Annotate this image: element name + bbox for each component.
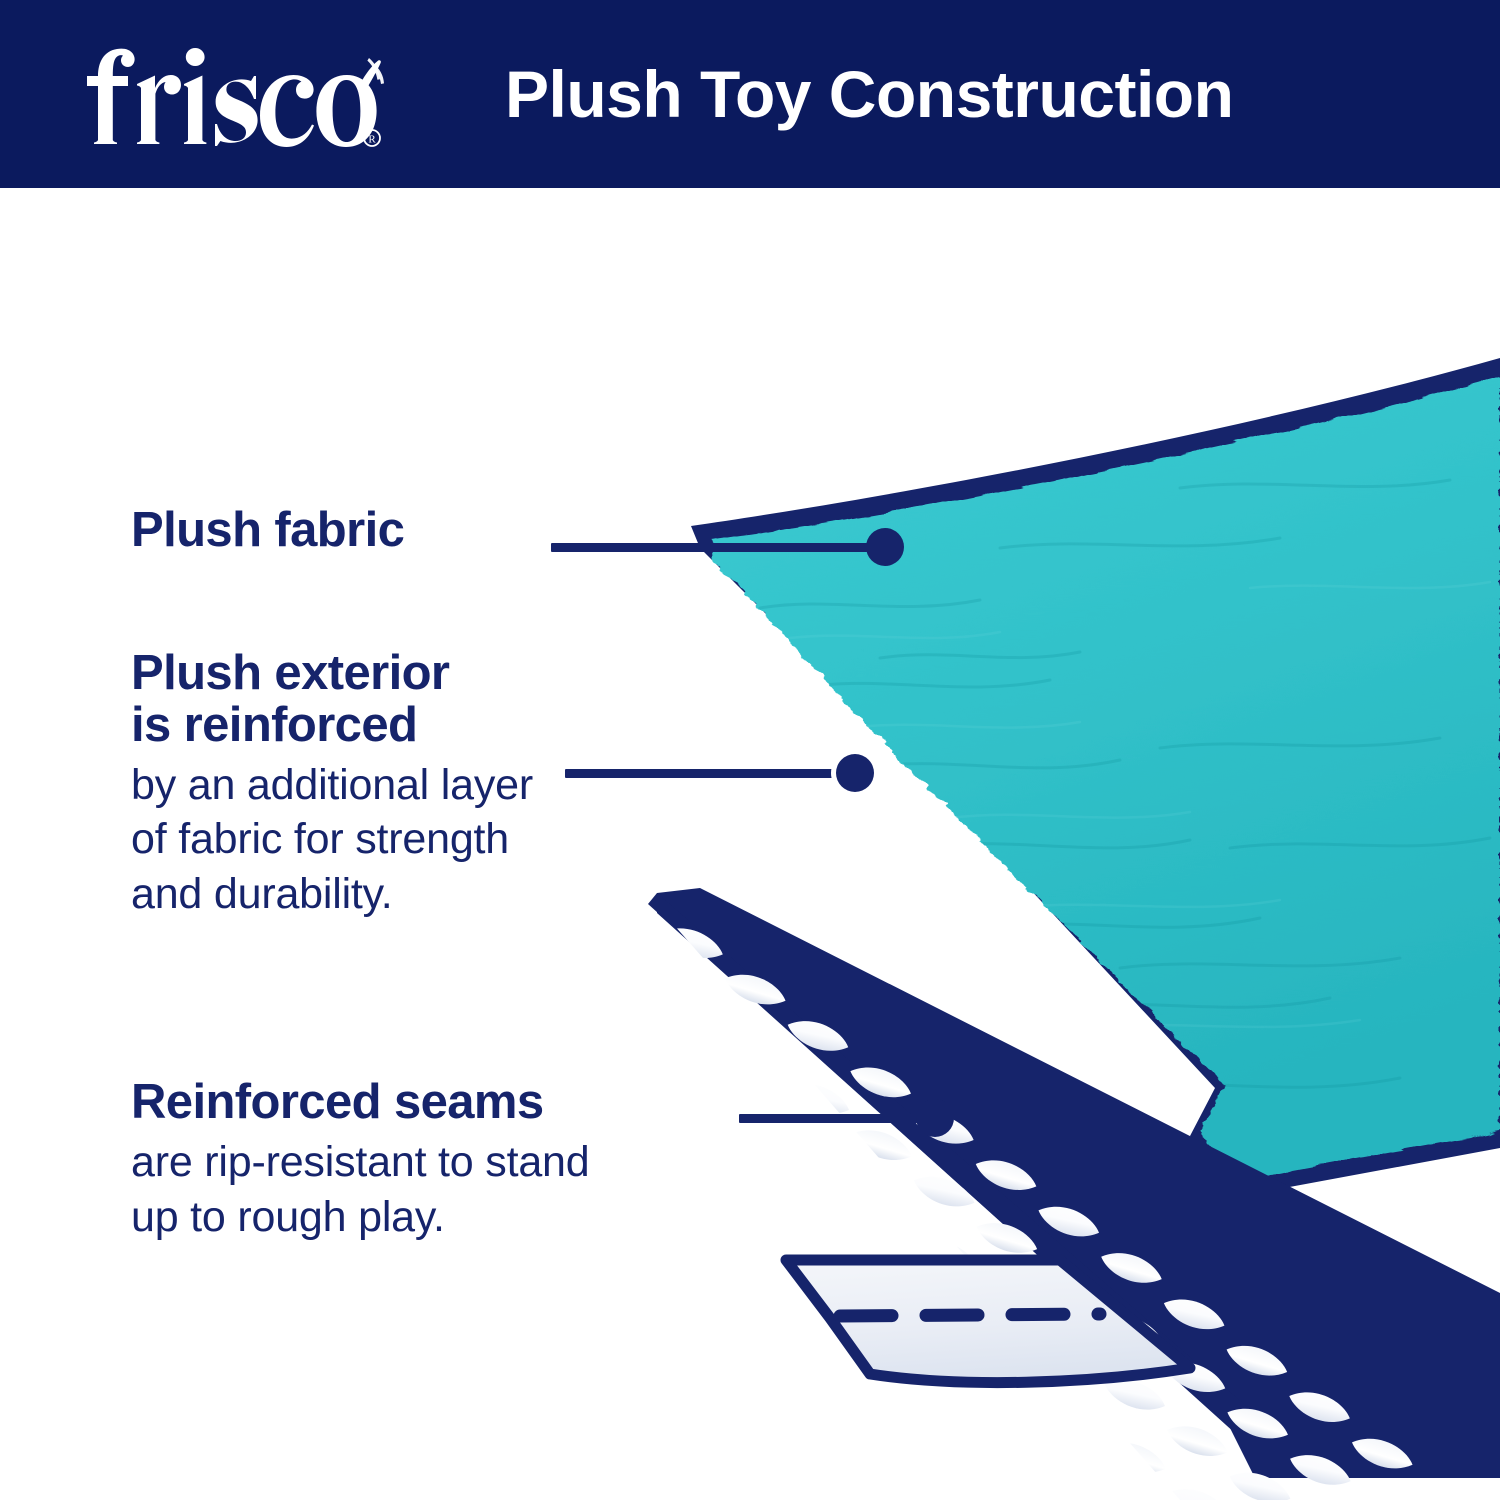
callout-body-plush-exterior: by an additional layer of fabric for str…: [131, 758, 731, 922]
callout-title-plush-fabric: Plush fabric: [131, 505, 691, 557]
header-bar: R Plush Toy Construction: [0, 0, 1500, 188]
callout-plush-exterior: Plush exterior is reinforced by an addit…: [131, 648, 731, 922]
frisco-logo: R: [84, 44, 384, 150]
page-title: Plush Toy Construction: [505, 0, 1233, 188]
plush-fabric-layer: [691, 358, 1500, 1198]
callout-title-plush-exterior: Plush exterior is reinforced: [131, 648, 731, 752]
callout-reinforced-seams: Reinforced seams are rip-resistant to st…: [131, 1077, 791, 1244]
callout-body-reinforced-seams: are rip-resistant to stand up to rough p…: [131, 1135, 791, 1244]
leader-dot-reinforced-seams: [916, 1099, 954, 1137]
svg-text:R: R: [368, 133, 376, 145]
leader-dot-plush-exterior: [836, 754, 874, 792]
frisco-wordmark-icon: R: [84, 44, 384, 150]
callout-plush-fabric: Plush fabric: [131, 505, 691, 557]
seam-stitch-line: [840, 1314, 1100, 1316]
leader-dot-plush-fabric: [866, 528, 904, 566]
callout-title-reinforced-seams: Reinforced seams: [131, 1077, 791, 1129]
infographic-page: R Plush Toy Construction: [0, 0, 1500, 1500]
